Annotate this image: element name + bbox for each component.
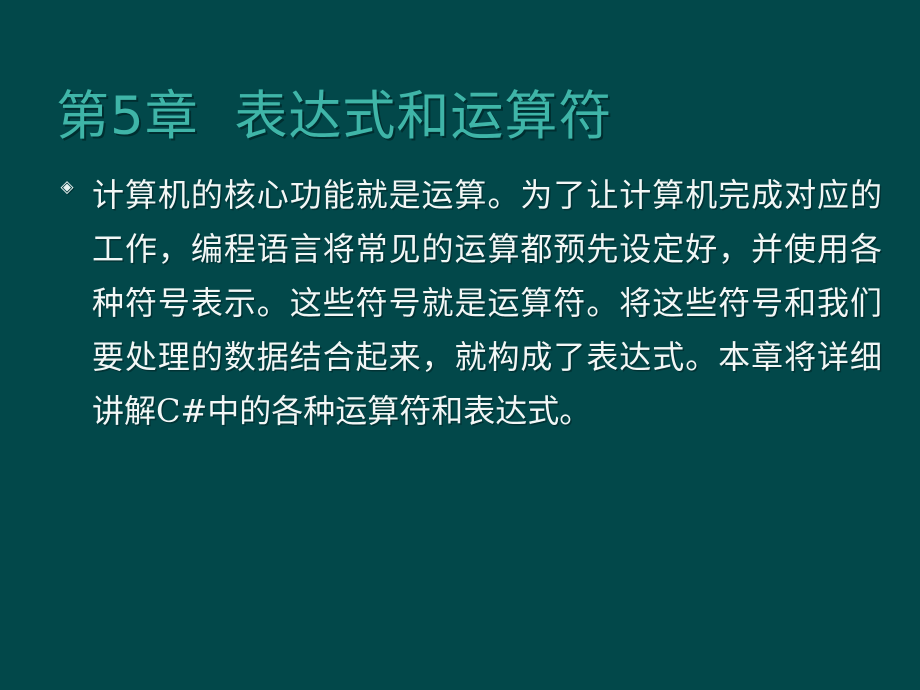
slide-title: 第5章 表达式和运算符 (56, 84, 876, 150)
slide-body: ◈ 计算机的核心功能就是运算。为了让计算机完成对应的工作，编程语言将常见的运算都… (52, 168, 882, 438)
bullet-paragraph-text: 计算机的核心功能就是运算。为了让计算机完成对应的工作，编程语言将常见的运算都预先… (92, 168, 882, 438)
bullet-list-item: ◈ 计算机的核心功能就是运算。为了让计算机完成对应的工作，编程语言将常见的运算都… (52, 168, 882, 438)
diamond-bullet-icon: ◈ (56, 176, 78, 198)
presentation-slide: 第5章 表达式和运算符 ◈ 计算机的核心功能就是运算。为了让计算机完成对应的工作… (0, 0, 920, 690)
